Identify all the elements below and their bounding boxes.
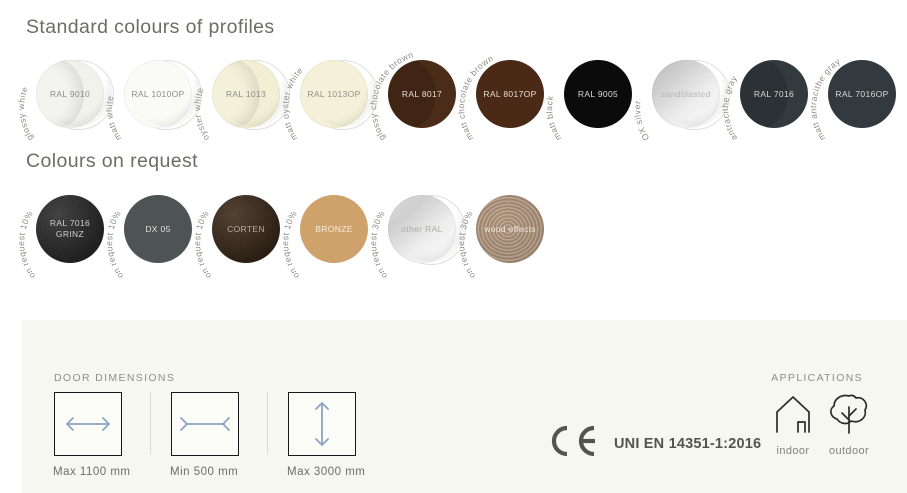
dimension-box: [171, 392, 239, 456]
door-dimensions-label: DOOR DIMENSIONS: [54, 372, 175, 384]
product-colour-sheet: Standard colours of profiles RAL 9010glo…: [0, 0, 907, 493]
dimension-caption: Max 3000 mm: [287, 466, 380, 478]
application-item: indoor: [765, 392, 821, 457]
colour-swatch[interactable]: RAL 1013OPmatt oyster white: [286, 52, 382, 148]
standard-colours-heading: Standard colours of profiles: [26, 16, 275, 39]
tree-icon: [826, 392, 872, 436]
horizontal-double-arrow-icon: [55, 393, 121, 455]
ce-certification: UNI EN 14351-1:2016: [544, 424, 761, 463]
ce-mark-icon: [544, 424, 602, 463]
ce-standard-text: UNI EN 14351-1:2016: [614, 436, 761, 452]
svg-text:on request 10%: on request 10%: [104, 209, 125, 281]
vertical-double-arrow-icon: [289, 393, 355, 455]
colour-swatch[interactable]: RAL 1010OPmatt white: [110, 52, 206, 148]
dimension-box: [288, 392, 356, 456]
svg-text:on request 30%: on request 30%: [456, 209, 477, 281]
colour-swatch[interactable]: RAL 7016antracithe gray: [726, 52, 822, 148]
application-item: outdoor: [821, 392, 877, 457]
colour-finish-caption: matt antracithe gray: [812, 46, 907, 158]
colour-swatch[interactable]: RAL 9005matt black: [550, 52, 646, 148]
application-caption: outdoor: [821, 445, 877, 457]
svg-text:on request 10%: on request 10%: [280, 209, 301, 281]
colour-swatch[interactable]: DX 05on request 10%: [110, 187, 206, 283]
applications-group: indooroutdoor: [765, 392, 877, 457]
dimension-item: Max 1100 mm: [50, 392, 146, 478]
colour-swatch[interactable]: RAL 8017glossy chocolate brown: [374, 52, 470, 148]
door-dimensions-group: Max 1100 mmMin 500 mmMax 3000 mm: [50, 392, 380, 478]
svg-text:glossy white: glossy white: [16, 85, 35, 143]
colour-swatch[interactable]: CORTENon request 10%: [198, 187, 294, 283]
colour-swatch[interactable]: RAL 1013oyster white: [198, 52, 294, 148]
svg-text:on request 10%: on request 10%: [192, 209, 213, 281]
application-caption: indoor: [765, 445, 821, 457]
colour-swatch[interactable]: sandblastedOX silver: [638, 52, 734, 148]
svg-text:glossy chocolate brown: glossy chocolate brown: [368, 49, 415, 142]
dimension-item: Min 500 mm: [167, 392, 263, 478]
dimension-separator: [150, 392, 151, 454]
dimension-caption: Max 1100 mm: [53, 466, 146, 478]
colour-swatch[interactable]: BRONZEon request 10%: [286, 187, 382, 283]
horizontal-inward-arrow-icon: [172, 393, 238, 455]
applications-label: APPLICATIONS: [771, 372, 863, 384]
colour-swatch[interactable]: RAL 9010glossy white: [22, 52, 118, 148]
specs-footer: DOOR DIMENSIONS APPLICATIONS Max 1100 mm…: [22, 320, 907, 493]
dimension-box: [54, 392, 122, 456]
colour-swatch[interactable]: wood effectson request 30%: [462, 187, 558, 283]
colour-swatch[interactable]: RAL 7016 GRINZon request 10%: [22, 187, 118, 283]
colour-swatch[interactable]: other RALon request 30%: [374, 187, 470, 283]
svg-text:on request 30%: on request 30%: [368, 209, 389, 281]
colour-swatch[interactable]: RAL 7016OPmatt antracithe gray: [814, 52, 907, 148]
svg-text:on request 10%: on request 10%: [16, 209, 37, 281]
svg-text:matt chocolate brown: matt chocolate brown: [456, 53, 495, 143]
svg-text:matt antracithe gray: matt antracithe gray: [808, 56, 842, 142]
dimension-separator: [267, 392, 268, 454]
house-icon: [770, 392, 816, 436]
dimension-item: Max 3000 mm: [284, 392, 380, 478]
colour-finish-caption: on request 30%: [460, 181, 572, 293]
colour-swatch[interactable]: RAL 8017OPmatt chocolate brown: [462, 52, 558, 148]
dimension-caption: Min 500 mm: [170, 466, 263, 478]
svg-text:matt oyster white: matt oyster white: [280, 65, 305, 142]
